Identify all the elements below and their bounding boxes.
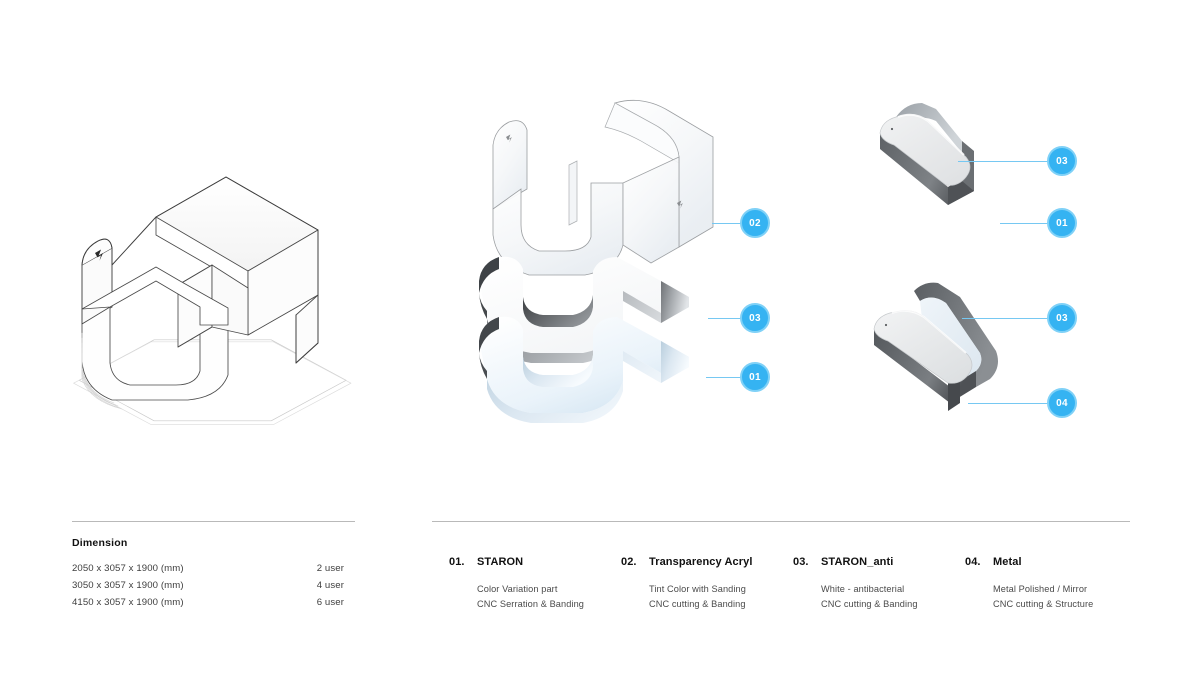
- callout-badge-02[interactable]: 02: [740, 208, 770, 238]
- seat-detail-view: [870, 95, 1010, 245]
- legend-name: STARON: [477, 556, 523, 568]
- legend-detail-line: White - antibacterial: [821, 582, 965, 597]
- sheet-canvas: 02 03 01 03 01 03 04 Dimension 2050 x 30…: [0, 0, 1200, 675]
- legend-detail-line: Tint Color with Sanding: [649, 582, 793, 597]
- legend-number: 01.: [449, 556, 471, 568]
- seat-back-detail-view: [862, 275, 1022, 440]
- divider-rule-right: [432, 521, 1130, 522]
- leader-line-detail-bottom-03: [962, 318, 1048, 319]
- callout-badge-01[interactable]: 01: [740, 362, 770, 392]
- legend-detail-line: CNC cutting & Banding: [649, 597, 793, 612]
- legend-column-staron: 01.STARON Color Variation part CNC Serra…: [449, 556, 621, 612]
- dimension-block: Dimension 2050 x 3057 x 1900 (mm) 2 user…: [72, 537, 344, 611]
- legend-heading: 04.Metal: [965, 556, 1137, 568]
- legend-number: 02.: [621, 556, 643, 568]
- legend-detail-line: CNC Serration & Banding: [477, 597, 621, 612]
- dimension-size: 2050 x 3057 x 1900 (mm): [72, 560, 184, 577]
- callout-badge-detail-bottom-03[interactable]: 03: [1047, 303, 1077, 333]
- leader-line-exploded-03: [708, 318, 742, 319]
- legend-column-metal: 04.Metal Metal Polished / Mirror CNC cut…: [965, 556, 1137, 612]
- layer-transparency-acryl: [493, 100, 713, 275]
- legend-number: 04.: [965, 556, 987, 568]
- legend-heading: 03.STARON_anti: [793, 556, 965, 568]
- callout-badge-detail-bottom-04[interactable]: 04: [1047, 388, 1077, 418]
- leader-line-exploded-01: [706, 377, 742, 378]
- callout-badge-detail-top-03[interactable]: 03: [1047, 146, 1077, 176]
- legend-name: STARON_anti: [821, 556, 893, 568]
- dimension-users: 2 user: [317, 560, 344, 577]
- legend-column-staron-anti: 03.STARON_anti White - antibacterial CNC…: [793, 556, 965, 612]
- legend-number: 03.: [793, 556, 815, 568]
- dimension-size: 4150 x 3057 x 1900 (mm): [72, 594, 184, 611]
- legend-detail-line: CNC cutting & Banding: [821, 597, 965, 612]
- legend-heading: 01.STARON: [449, 556, 621, 568]
- leader-line-detail-bottom-04: [968, 403, 1048, 404]
- dimension-row: 3050 x 3057 x 1900 (mm) 4 user: [72, 577, 344, 594]
- dimension-row: 4150 x 3057 x 1900 (mm) 6 user: [72, 594, 344, 611]
- leader-line-exploded-02: [712, 223, 742, 224]
- dimension-users: 6 user: [317, 594, 344, 611]
- dimension-users: 4 user: [317, 577, 344, 594]
- legend-detail-line: Metal Polished / Mirror: [993, 582, 1137, 597]
- dimension-title: Dimension: [72, 537, 344, 549]
- material-legend: 01.STARON Color Variation part CNC Serra…: [449, 556, 1139, 612]
- legend-heading: 02.Transparency Acryl: [621, 556, 793, 568]
- callout-badge-03[interactable]: 03: [740, 303, 770, 333]
- legend-name: Metal: [993, 556, 1022, 568]
- legend-name: Transparency Acryl: [649, 556, 753, 568]
- dimension-row: 2050 x 3057 x 1900 (mm) 2 user: [72, 560, 344, 577]
- legend-detail-line: CNC cutting & Structure: [993, 597, 1137, 612]
- legend-column-transparency-acryl: 02.Transparency Acryl Tint Color with Sa…: [621, 556, 793, 612]
- dimension-size: 3050 x 3057 x 1900 (mm): [72, 577, 184, 594]
- assembled-wireframe-view: [60, 175, 370, 440]
- leader-line-detail-top-01: [1000, 223, 1048, 224]
- leader-line-detail-top-03: [958, 161, 1048, 162]
- callout-badge-detail-top-01[interactable]: 01: [1047, 208, 1077, 238]
- divider-rule-left: [72, 521, 355, 522]
- exploded-material-view: [465, 85, 730, 470]
- legend-detail-line: Color Variation part: [477, 582, 621, 597]
